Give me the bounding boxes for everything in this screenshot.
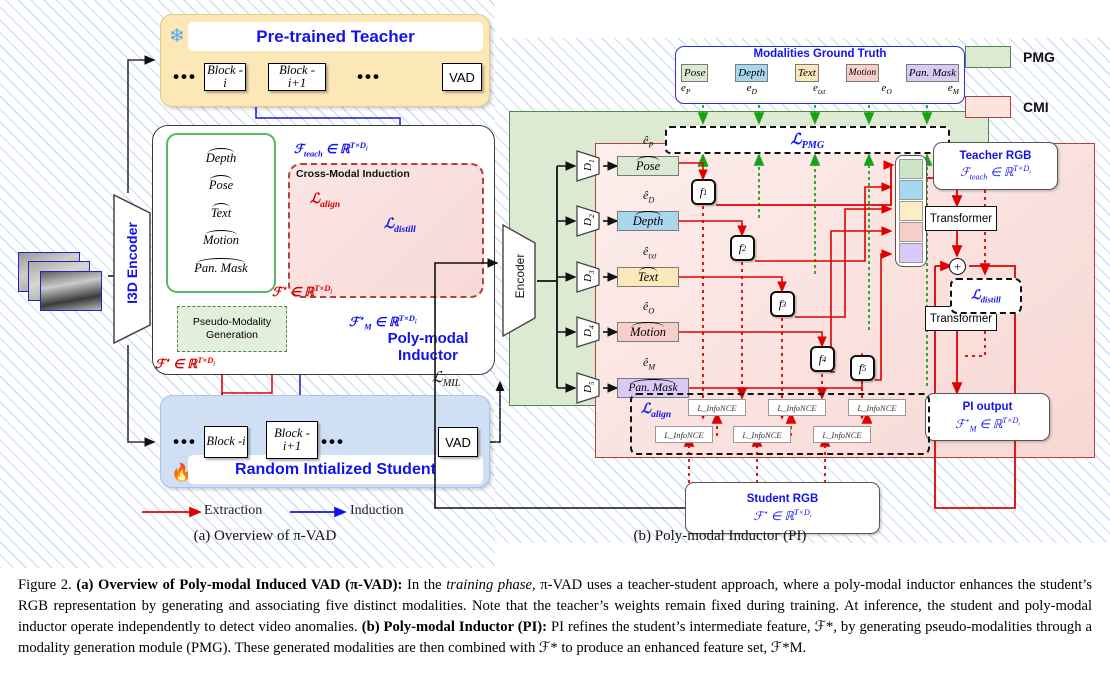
gt-chip-row: Pose Depth Text Motion Pan. Mask — [681, 64, 959, 81]
caption-figure-number: Figure 2. — [18, 577, 72, 593]
gt-embedding-row: eP eD etxt eO eM — [681, 82, 959, 96]
gt-chip-text: Text — [795, 64, 819, 82]
hat-etxt-label: êtxt — [643, 244, 656, 260]
loss-mil-label: ℒMIL — [432, 368, 460, 389]
emb-ed: eD — [747, 82, 757, 96]
panel-a-overview: I3D Encoder ❄ Pre-trained Teacher ••• Bl… — [0, 0, 495, 568]
caption-a-italic: training phase — [446, 577, 532, 593]
pseudo-motion-chip: Motion — [617, 322, 679, 342]
panel-b-poly-modal-inductor: Modalities Ground Truth Pose Depth Text … — [495, 38, 1110, 543]
decoder-d1: D1 — [575, 149, 601, 183]
teacher-rgb-box: Teacher RGB ℱteach ∈ ℝT×Di — [933, 142, 1058, 190]
teacher-dots-left: ••• — [168, 68, 202, 86]
figure-caption: Figure 2. (a) Overview of Poly-modal Ind… — [18, 575, 1092, 660]
legend-swatch-cmi — [965, 96, 1011, 118]
concatenated-feature-stack — [895, 155, 927, 267]
teacher-block-i: Block - i — [204, 63, 246, 91]
loss-distill-box: ℒdistill — [950, 278, 1022, 314]
infonce-box-1: L_InfoNCE — [688, 399, 746, 416]
legend-swatch-pmg — [965, 46, 1011, 68]
decoder-d4: D4 — [575, 315, 601, 349]
caption-a-text1: In the — [402, 577, 446, 593]
encoder-label: Encoder — [513, 217, 527, 335]
panel-a-label: (a) Overview of π-VAD — [100, 528, 430, 545]
gt-chip-pose: Pose — [681, 64, 708, 82]
gt-chip-depth: Depth — [735, 64, 768, 82]
cross-modal-induction-title: Cross-Modal Induction — [296, 168, 456, 180]
stack-seg-pose — [899, 159, 923, 179]
fusion-node-f2: f2 — [730, 235, 755, 261]
fusion-node-f1: f1 — [691, 179, 716, 205]
loss-pmg-box: ℒPMG — [665, 126, 950, 154]
infonce-box-2: L_InfoNCE — [768, 399, 826, 416]
infonce-box-4: L_InfoNCE — [655, 426, 713, 443]
figure-canvas: I3D Encoder ❄ Pre-trained Teacher ••• Bl… — [0, 0, 1110, 568]
modality-motion: Motion — [203, 233, 239, 248]
fusion-node-f4: f4 — [810, 346, 835, 372]
pseudo-text-chip: Text — [617, 267, 679, 287]
infonce-box-5: L_InfoNCE — [733, 426, 791, 443]
f-star-top-label: ℱ⋆ ∈ ℝT×Di — [272, 283, 332, 300]
decoder-d5: D5 — [575, 371, 601, 405]
emb-em: eM — [948, 82, 959, 96]
student-dots-right: ••• — [318, 433, 348, 451]
caption-b-bold: (b) Poly-modal Inductor (PI): — [362, 619, 547, 635]
panel-b-label: (b) Poly-modal Inductor (PI) — [560, 528, 880, 545]
f-m-star-label: ℱ⋆M ∈ ℝT×Di — [349, 313, 417, 332]
stack-seg-depth — [899, 180, 923, 200]
loss-distill-label-a: ℒdistill — [384, 215, 416, 235]
loss-align-label-a: ℒalign — [310, 190, 340, 210]
hat-em-label: êM — [643, 355, 655, 371]
pi-output-box: PI output ℱ⋆M ∈ ℝT×Di — [925, 393, 1050, 441]
modality-list-box: Depth Pose Text Motion Pan. Mask — [166, 133, 276, 293]
sum-node: + — [949, 258, 966, 275]
teacher-dots-right: ••• — [352, 68, 386, 86]
hat-ep-label: êP — [643, 133, 653, 149]
student-rgb-box: Student RGB ℱ⋆ ∈ ℝT×Di — [685, 482, 880, 534]
student-dots-left: ••• — [168, 433, 202, 451]
i3d-encoder: I3D Encoder — [112, 193, 152, 345]
infonce-box-3: L_InfoNCE — [848, 399, 906, 416]
teacher-vad: VAD — [442, 63, 482, 91]
emb-etxt: etxt — [813, 82, 825, 96]
student-vad: VAD — [438, 427, 478, 457]
modality-text: Text — [211, 206, 231, 221]
stack-seg-motion — [899, 222, 923, 242]
loss-align-label-b: ℒalign — [641, 400, 671, 420]
hat-eo-label: êO — [643, 299, 654, 315]
legend-induction-label: Induction — [350, 503, 404, 519]
legend-label-cmi: CMI — [1023, 99, 1049, 115]
teacher-block-i1: Block - i+1 — [268, 63, 326, 91]
modality-depth: Depth — [206, 151, 237, 166]
emb-ep: eP — [681, 82, 690, 96]
stack-seg-text — [899, 201, 923, 221]
infonce-box-6: L_InfoNCE — [813, 426, 871, 443]
input-video-frames — [18, 252, 106, 314]
student-title: Random Intialized Student — [188, 455, 483, 484]
video-frame-3 — [40, 271, 102, 311]
gt-chip-motion: Motion — [846, 64, 879, 82]
modalities-ground-truth-title: Modalities Ground Truth — [675, 48, 965, 60]
encoder-trapezoid: Encoder — [501, 223, 537, 338]
legend-extraction-label: Extraction — [204, 503, 262, 519]
pseudo-pose-chip: Pose — [617, 156, 679, 176]
pseudo-depth-chip: Depth — [617, 211, 679, 231]
i3d-encoder-label: I3D Encoder — [124, 198, 140, 328]
hat-ed-label: êD — [643, 188, 654, 204]
modality-pose: Pose — [209, 178, 233, 193]
gt-chip-pan-mask: Pan. Mask — [906, 64, 959, 82]
decoder-d3: D3 — [575, 260, 601, 294]
decoder-d2: D2 — [575, 204, 601, 238]
fusion-node-f3: f3 — [770, 291, 795, 317]
transformer-1: Transformer — [925, 206, 997, 231]
poly-modal-inductor-title: Poly-modal Inductor — [368, 330, 488, 365]
caption-a-bold: (a) Overview of Poly-modal Induced VAD (… — [76, 577, 402, 593]
stack-seg-mask — [899, 243, 923, 263]
student-block-i1: Block - i+1 — [266, 421, 318, 459]
f-teach-label: ℱteach ∈ ℝT×Di — [294, 140, 368, 159]
f-star-bottom-label: ℱ⋆ ∈ ℝT×Di — [155, 355, 215, 372]
emb-eo: eO — [881, 82, 891, 96]
fusion-node-f5: f5 — [850, 355, 875, 381]
pseudo-modality-generation-box: Pseudo-Modality Generation — [177, 306, 287, 352]
snowflake-icon: ❄ — [166, 24, 188, 49]
student-block-i: Block -i — [204, 426, 248, 458]
modality-pan-mask: Pan. Mask — [194, 261, 247, 276]
legend-label-pmg: PMG — [1023, 49, 1055, 65]
teacher-title: Pre-trained Teacher — [188, 22, 483, 51]
